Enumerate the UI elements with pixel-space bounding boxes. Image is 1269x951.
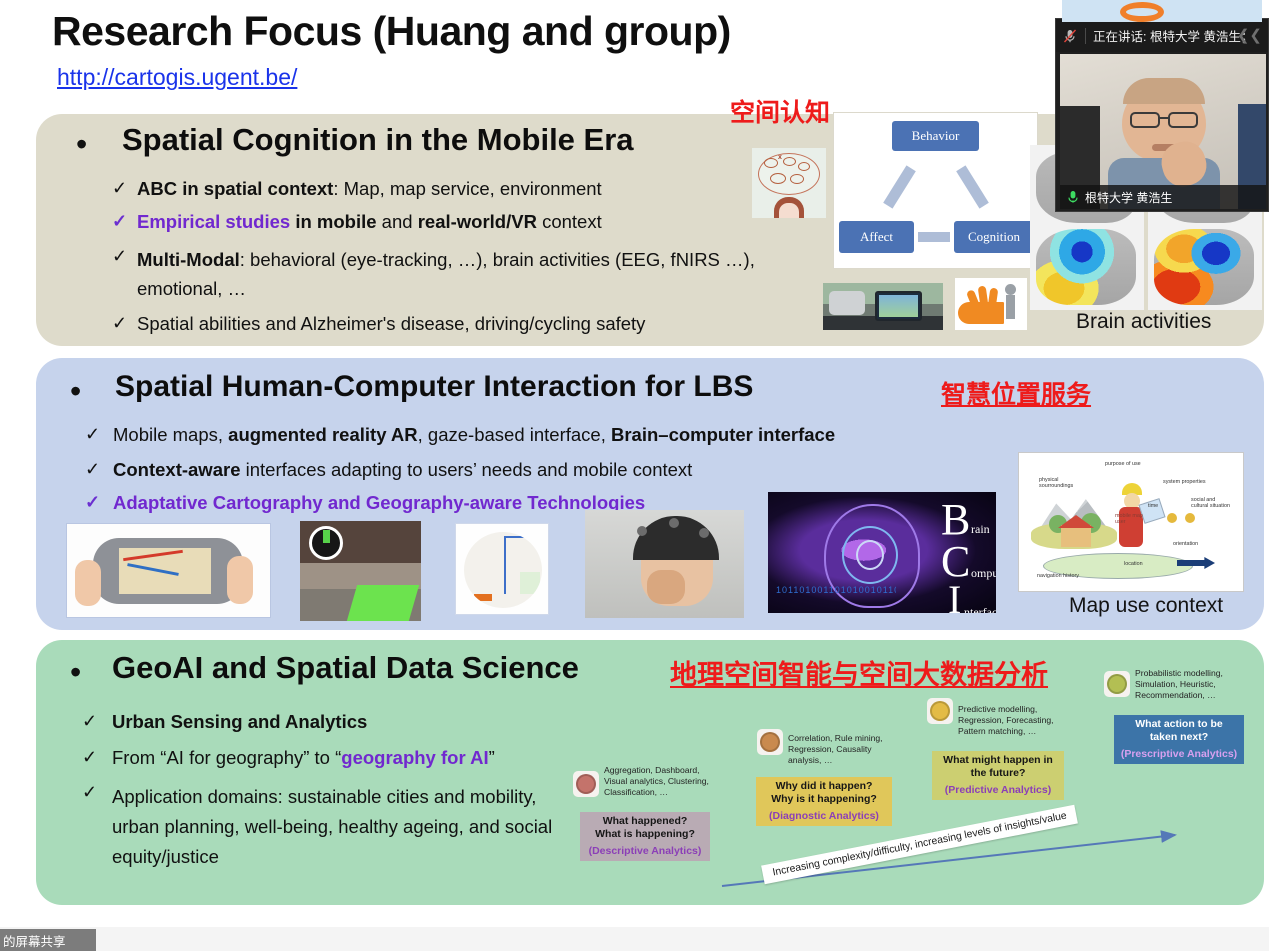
section-bullet-1: • xyxy=(76,128,87,160)
bullet-item-3-1: Urban Sensing and Analytics xyxy=(112,711,367,733)
bullet-item-3-3: Application domains: sustainable cities … xyxy=(112,782,582,872)
check-icon: ✓ xyxy=(112,178,127,199)
abc-arrow-left xyxy=(883,165,916,208)
screen-share-label: 的屏幕共享 xyxy=(3,931,66,950)
bullet-item-2-2: Context-aware interfaces adapting to use… xyxy=(113,459,692,481)
section-bullet-2: • xyxy=(70,375,81,407)
bullet-lead: ABC in spatial context xyxy=(137,178,333,199)
header-divider xyxy=(1085,28,1086,44)
participant-name-bar: 根特大学 黄浩生 xyxy=(1060,185,1266,209)
prescriptive-q1: What action to be xyxy=(1118,718,1240,731)
descriptive-techniques: Aggregation, Dashboard, Visual analytics… xyxy=(604,765,716,799)
muc-label-purpose: purpose of use xyxy=(1105,461,1141,467)
bullet-rest: and xyxy=(377,211,418,232)
section-cn-tag-3: 地理空间智能与空间大数据分析 xyxy=(670,653,1048,692)
participant-name: 根特大学 黄浩生 xyxy=(1085,189,1172,206)
bci-word-interface: nterface xyxy=(964,605,1001,618)
bullet-bold-tail: real-world/VR xyxy=(418,211,537,232)
abc-triangle-diagram: Behavior Affect Cognition xyxy=(833,112,1038,269)
bullet-lead: Multi-Modal xyxy=(137,249,240,270)
video-participant-panel[interactable]: 正在讲话: 根特大学 黄浩生； ❮❮ xyxy=(1055,18,1269,212)
check-icon: ✓ xyxy=(82,782,97,803)
cycling-safety-illustration xyxy=(955,278,1027,330)
predictive-techniques: Predictive modelling, Regression, Foreca… xyxy=(958,704,1070,738)
bullet-item-1-2: Empirical studies in mobile and real-wor… xyxy=(137,211,602,233)
prescriptive-techniques: Probabilistic modelling, Simulation, Heu… xyxy=(1135,668,1253,702)
muc-label-time: time xyxy=(1148,503,1158,509)
bullet-item-1-1: ABC in spatial context: Map, map service… xyxy=(137,178,602,200)
bullet-lead: Empirical studies xyxy=(137,211,290,232)
check-icon: ✓ xyxy=(112,313,127,334)
bottom-strip xyxy=(0,927,1269,951)
abc-node-affect: Affect xyxy=(839,221,914,253)
muc-label-physical: physical sourroundings xyxy=(1039,477,1083,489)
mic-active-icon xyxy=(1067,190,1079,204)
abc-arrow-right xyxy=(956,165,989,208)
predictive-q2: the future? xyxy=(936,767,1060,780)
active-speaker-label: 正在讲话: 根特大学 黄浩生； xyxy=(1093,26,1253,45)
section-cn-tag-2: 智慧位置服务 xyxy=(941,375,1091,411)
mobile-map-device-photo xyxy=(66,523,271,618)
check-icon: ✓ xyxy=(85,424,100,445)
video-feed[interactable]: 根特大学 黄浩生 xyxy=(1060,54,1266,209)
muc-label-orientation: orientation xyxy=(1173,541,1198,547)
website-link[interactable]: http://cartogis.ugent.be/ xyxy=(57,64,297,91)
descriptive-q1: What happened? xyxy=(584,815,706,828)
prescriptive-type: (Prescriptive Analytics) xyxy=(1118,748,1240,761)
bci-word-brain: rain xyxy=(971,522,990,537)
prescriptive-q2: taken next? xyxy=(1118,731,1240,744)
bullet-item-1-4: Spatial abilities and Alzheimer's diseas… xyxy=(137,313,645,335)
predictive-box: What might happen in the future? (Predic… xyxy=(932,751,1064,800)
bci-letter-b: B xyxy=(941,498,970,542)
bci-letter-i: I xyxy=(948,580,961,618)
bci-word-computer: omputer xyxy=(971,566,1001,581)
predictive-q1: What might happen in xyxy=(936,754,1060,767)
brain-activities-caption: Brain activities xyxy=(1076,310,1211,334)
check-icon: ✓ xyxy=(85,459,100,480)
mic-muted-icon[interactable] xyxy=(1062,28,1078,44)
descriptive-type: (Descriptive Analytics) xyxy=(584,845,706,858)
diagnostic-q2: Why is it happening? xyxy=(760,793,888,806)
map-use-context-caption: Map use context xyxy=(1069,594,1223,618)
diagnostic-box: Why did it happen? Why is it happening? … xyxy=(756,777,892,826)
check-icon: ✓ xyxy=(112,211,127,232)
predictive-icon xyxy=(927,698,953,724)
check-icon: ✓ xyxy=(82,747,97,768)
chevrons-collapse-icon[interactable]: ❮❮ xyxy=(1237,28,1262,43)
abc-node-cognition: Cognition xyxy=(954,221,1034,253)
diagnostic-techniques: Correlation, Rule mining, Regression, Ca… xyxy=(788,733,896,767)
bullet-mid: in mobile xyxy=(290,211,376,232)
eeg-headset-photo xyxy=(585,510,744,618)
page-title: Research Focus (Huang and group) xyxy=(52,8,731,55)
muc-label-system: system properties xyxy=(1163,479,1206,485)
predictive-type: (Predictive Analytics) xyxy=(936,784,1060,797)
check-icon: ✓ xyxy=(85,492,100,513)
bci-illustration: 1011010011010100101101001101010010110100… xyxy=(763,487,1001,618)
driving-safety-photo xyxy=(823,283,943,330)
check-icon: ✓ xyxy=(82,711,97,732)
muc-label-social: social and cultural situation xyxy=(1191,497,1231,509)
prescriptive-icon xyxy=(1104,671,1130,697)
cognitive-map-illustration: x xyxy=(752,148,826,218)
muc-label-user: mobile map user xyxy=(1115,513,1145,525)
bullet-item-1-3: Multi-Modal: behavioral (eye-tracking, …… xyxy=(137,246,777,303)
map-route-screenshot xyxy=(455,523,549,615)
muc-label-location: location xyxy=(1124,561,1143,567)
ar-navigation-photo xyxy=(300,521,421,621)
abc-arrow-bottom xyxy=(918,232,950,242)
background-image-sliver xyxy=(1062,0,1262,22)
descriptive-box: What happened? What is happening? (Descr… xyxy=(580,812,710,861)
prescriptive-box: What action to be taken next? (Prescript… xyxy=(1114,715,1244,764)
bullet-tail: context xyxy=(537,211,602,232)
diagnostic-q1: Why did it happen? xyxy=(760,780,888,793)
section-bullet-3: • xyxy=(70,656,81,688)
bullet-item-2-1: Mobile maps, augmented reality AR, gaze-… xyxy=(113,424,835,446)
section-heading-2: Spatial Human-Computer Interaction for L… xyxy=(115,370,753,404)
abc-node-behavior: Behavior xyxy=(892,121,979,151)
descriptive-icon xyxy=(573,771,599,797)
muc-label-navhistory: navigation history xyxy=(1037,573,1079,579)
section-cn-tag-1: 空间认知 xyxy=(730,93,830,129)
diagnostic-type: (Diagnostic Analytics) xyxy=(760,810,888,823)
section-heading-1: Spatial Cognition in the Mobile Era xyxy=(122,122,634,158)
bullet-rest: : Map, map service, environment xyxy=(333,178,601,199)
presentation-slide: Research Focus (Huang and group) http://… xyxy=(0,0,1269,951)
check-icon: ✓ xyxy=(112,246,127,267)
diagnostic-icon xyxy=(757,729,783,755)
bullet-item-2-3: Adaptative Cartography and Geography-awa… xyxy=(113,492,645,514)
screen-share-indicator[interactable]: 的屏幕共享 xyxy=(0,929,96,951)
map-use-context-diagram: purpose of use physical sourroundings sy… xyxy=(1018,452,1244,592)
bullet-item-3-2: From “AI for geography” to “geography fo… xyxy=(112,747,495,769)
video-panel-header: 正在讲话: 根特大学 黄浩生； ❮❮ xyxy=(1056,19,1268,52)
descriptive-q2: What is happening? xyxy=(584,828,706,841)
section-heading-3: GeoAI and Spatial Data Science xyxy=(112,650,579,686)
